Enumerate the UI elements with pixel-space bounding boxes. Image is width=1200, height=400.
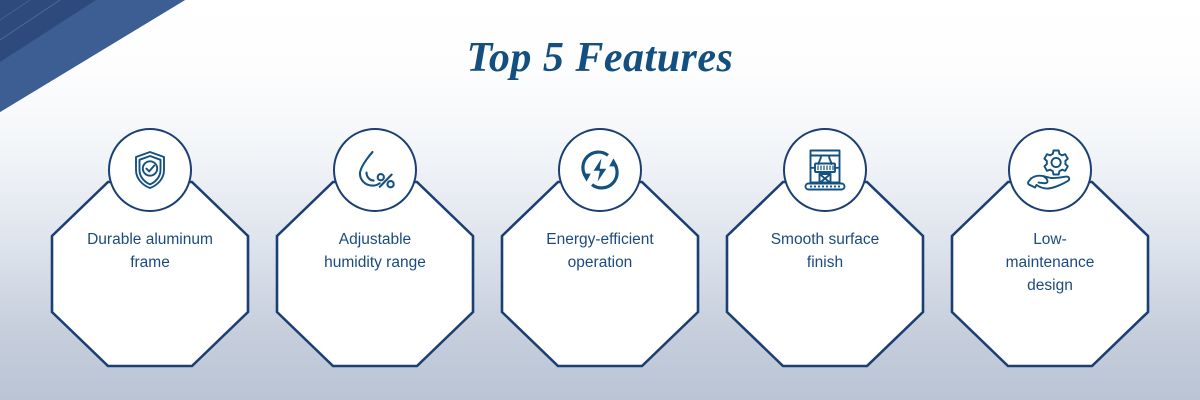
infographic-canvas: Top 5 Features Durable aluminumframe <box>0 0 1200 400</box>
feature-card-4[interactable]: Smooth surfacefinish <box>725 128 925 378</box>
feature-icon-circle-5 <box>1008 128 1092 212</box>
features-row: Durable aluminumframe Adjusta <box>50 128 1150 378</box>
feature-label-3: Energy-efficientoperation <box>514 228 686 274</box>
page-title: Top 5 Features <box>0 34 1200 82</box>
feature-card-2[interactable]: Adjustablehumidity range <box>275 128 475 378</box>
feature-icon-circle-1 <box>108 128 192 212</box>
feature-card-1[interactable]: Durable aluminumframe <box>50 128 250 378</box>
feature-icon-circle-4 <box>783 128 867 212</box>
feature-label-4: Smooth surfacefinish <box>739 228 911 274</box>
feature-label-1: Durable aluminumframe <box>64 228 236 274</box>
feature-icon-circle-2 <box>333 128 417 212</box>
surface-finishing-machine-icon <box>800 146 850 194</box>
water-drop-percent-icon <box>351 146 399 194</box>
feature-label-5: Low-maintenancedesign <box>964 228 1136 297</box>
shield-check-icon <box>126 146 174 194</box>
feature-card-5[interactable]: Low-maintenancedesign <box>950 128 1150 378</box>
feature-icon-circle-3 <box>558 128 642 212</box>
feature-label-2: Adjustablehumidity range <box>289 228 461 274</box>
feature-card-3[interactable]: Energy-efficientoperation <box>500 128 700 378</box>
hand-holding-gear-icon <box>1025 146 1075 194</box>
energy-cycle-bolt-icon <box>575 145 625 195</box>
